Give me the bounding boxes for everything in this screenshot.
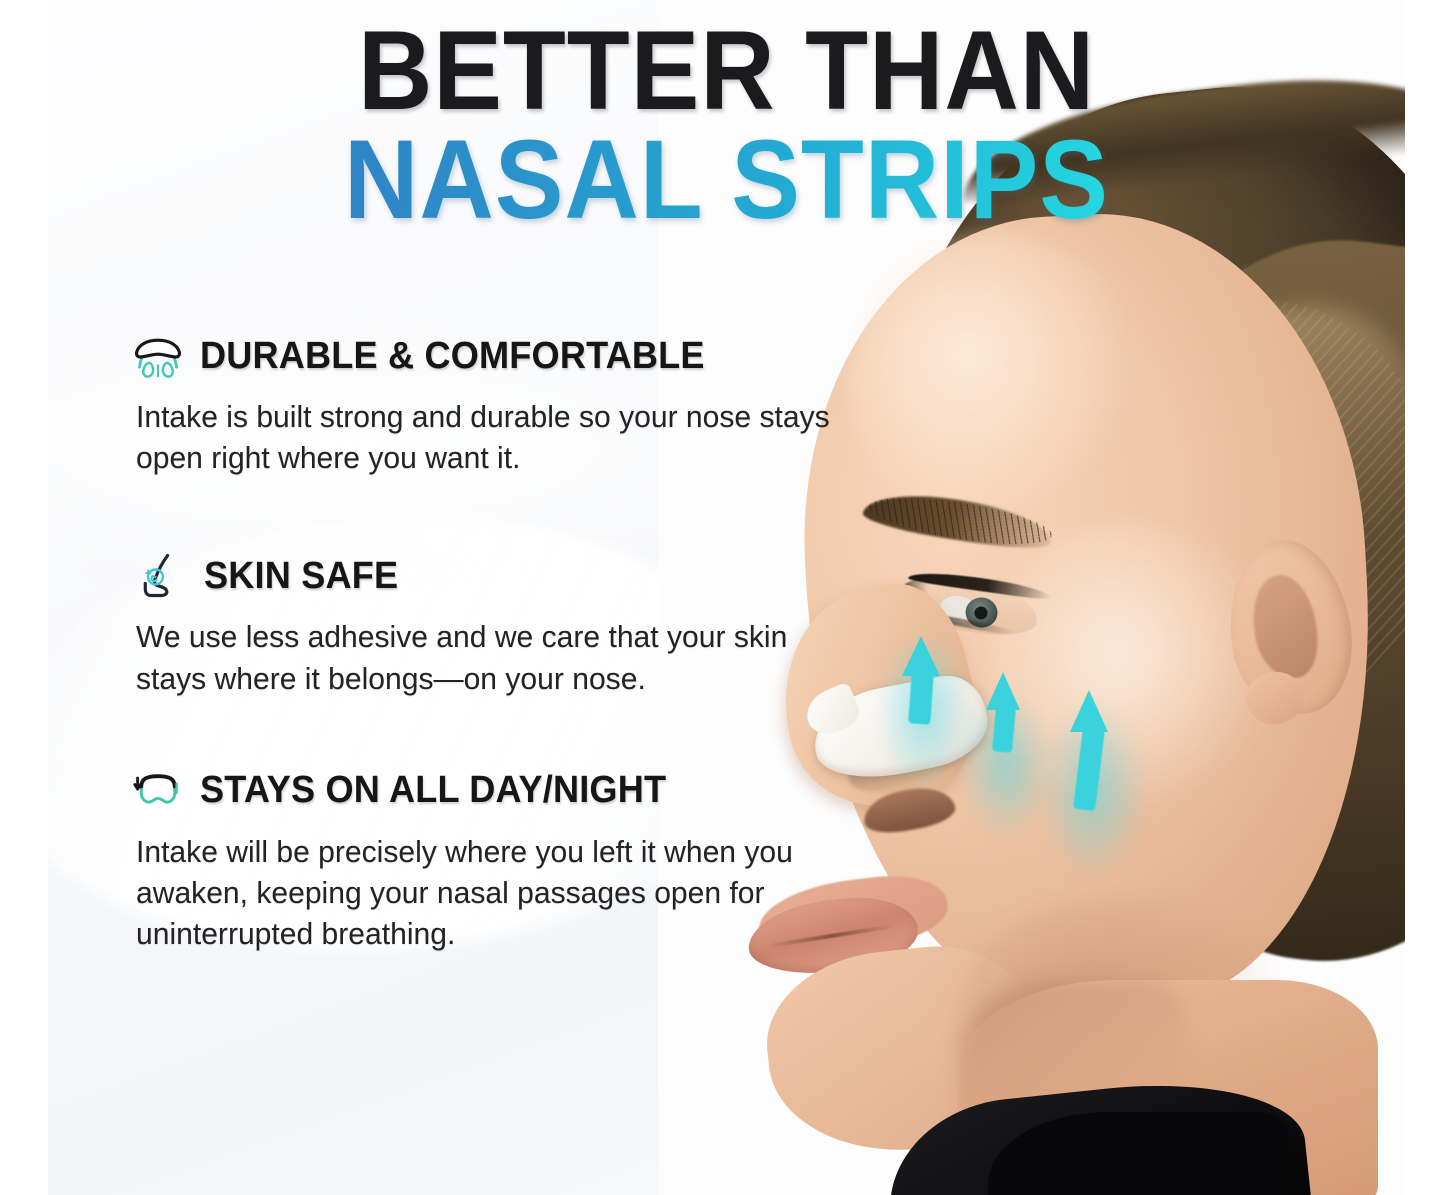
feature-heading-row: SKIN SAFE: [130, 550, 900, 602]
airflow-arrow-head-3: [1070, 690, 1108, 732]
feature-heading-row: STAYS ON ALL DAY/NIGHT: [130, 765, 900, 817]
airflow-arrow-stem-1: [908, 671, 934, 724]
nose-with-strip-icon: [130, 330, 186, 382]
airflow-arrow-head-1: [902, 636, 940, 676]
airflow-arrow-stem-2: [992, 705, 1016, 753]
feature-item-stays-on: STAYS ON ALL DAY/NIGHT Intake will be pr…: [130, 765, 900, 955]
nose-profile-skin-icon: [134, 550, 190, 602]
infographic-canvas: BETTER THAN NASAL STRIPS DURABLE & COMFO…: [0, 0, 1445, 1195]
feature-body: We use less adhesive and we care that yo…: [136, 616, 854, 698]
airflow-arrow-head-2: [986, 672, 1020, 710]
feature-list: DURABLE & COMFORTABLE Intake is built st…: [130, 330, 900, 955]
feature-item-durable: DURABLE & COMFORTABLE Intake is built st…: [130, 330, 900, 478]
feature-title: STAYS ON ALL DAY/NIGHT: [200, 769, 666, 812]
feature-title: DURABLE & COMFORTABLE: [200, 335, 705, 378]
feature-body: Intake will be precisely where you left …: [136, 831, 854, 955]
feature-heading-row: DURABLE & COMFORTABLE: [130, 330, 900, 382]
feature-body: Intake is built strong and durable so yo…: [136, 396, 854, 478]
content-panel: BETTER THAN NASAL STRIPS DURABLE & COMFO…: [48, 0, 1405, 1195]
feature-title: SKIN SAFE: [204, 555, 398, 598]
feature-item-skin-safe: SKIN SAFE We use less adhesive and we ca…: [130, 550, 900, 698]
nasal-strip-shape-icon: [130, 765, 186, 817]
